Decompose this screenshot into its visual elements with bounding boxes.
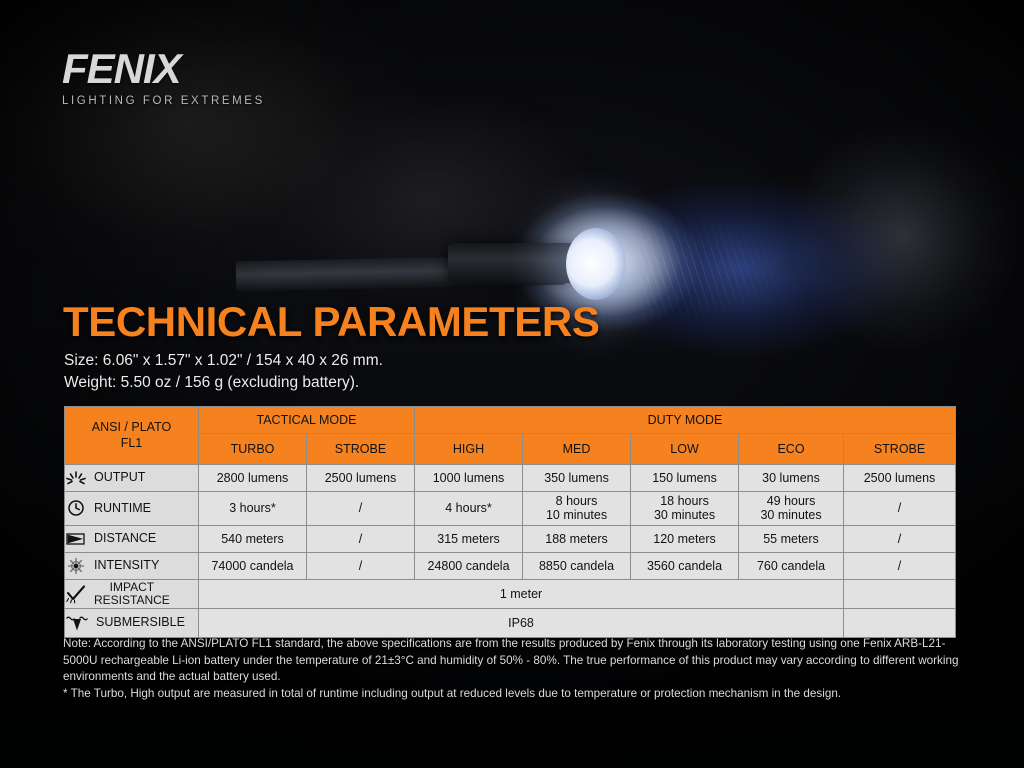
cell-output-low: 150 lumens	[631, 465, 739, 492]
table-row-intensity: INTENSITY 74000 candela / 24800 candela …	[65, 552, 956, 579]
row-label-text: SUBMERSIBLE	[96, 616, 185, 630]
clock-icon	[65, 499, 87, 517]
row-label-output: OUTPUT	[65, 465, 199, 492]
table-row-submersible: SUBMERSIBLE IP68	[65, 608, 956, 637]
cell-distance-strobe-tactical: /	[307, 525, 415, 552]
table-row-impact-resistance: IMPACT RESISTANCE 1 meter	[65, 579, 956, 608]
cell-output-strobe-duty: 2500 lumens	[844, 465, 956, 492]
column-header-low: LOW	[631, 434, 739, 465]
product-spec-page: FENIX LIGHTING FOR EXTREMES TECHNICAL PA…	[0, 0, 1024, 768]
brand-block: FENIX LIGHTING FOR EXTREMES	[62, 48, 265, 107]
row-label-submersible: SUBMERSIBLE	[65, 608, 199, 637]
impact-resistance-icon	[65, 584, 87, 604]
row-label-impact-resistance: IMPACT RESISTANCE	[65, 579, 199, 608]
cell-output-high: 1000 lumens	[415, 465, 523, 492]
sunburst-icon	[65, 470, 87, 487]
cell-distance-strobe-duty: /	[844, 525, 956, 552]
cell-distance-high: 315 meters	[415, 525, 523, 552]
beam-icon	[65, 531, 87, 547]
footnotes: Note: According to the ANSI/PLATO FL1 st…	[63, 636, 963, 702]
cell-intensity-low: 3560 candela	[631, 552, 739, 579]
cell-runtime-med: 8 hours 10 minutes	[523, 492, 631, 526]
column-header-strobe-duty: STROBE	[844, 434, 956, 465]
cell-submersible-empty	[844, 608, 956, 637]
technical-parameters-table: ANSI / PLATO FL1 TACTICAL MODE DUTY MODE…	[64, 406, 955, 638]
cell-runtime-high: 4 hours*	[415, 492, 523, 526]
cell-distance-low: 120 meters	[631, 525, 739, 552]
cell-runtime-turbo: 3 hours*	[199, 492, 307, 526]
table-group-header-row: ANSI / PLATO FL1 TACTICAL MODE DUTY MODE	[65, 407, 956, 434]
cell-output-turbo: 2800 lumens	[199, 465, 307, 492]
intensity-icon	[65, 557, 87, 575]
cell-runtime-low: 18 hours 30 minutes	[631, 492, 739, 526]
row-label-text: RUNTIME	[94, 502, 151, 516]
impact-label-line2: RESISTANCE	[94, 593, 170, 607]
cell-intensity-high: 24800 candela	[415, 552, 523, 579]
column-header-med: MED	[523, 434, 631, 465]
cell-intensity-eco: 760 candela	[739, 552, 844, 579]
group-header-duty-mode: DUTY MODE	[415, 407, 956, 434]
column-header-strobe-tactical: STROBE	[307, 434, 415, 465]
cell-intensity-strobe-tactical: /	[307, 552, 415, 579]
cell-intensity-med: 8850 candela	[523, 552, 631, 579]
impact-label-line1: IMPACT	[110, 580, 154, 594]
fenix-logo: FENIX	[62, 48, 265, 90]
page-title: TECHNICAL PARAMETERS	[63, 301, 599, 343]
cell-intensity-strobe-duty: /	[844, 552, 956, 579]
column-header-eco: ECO	[739, 434, 844, 465]
ansi-plato-corner: ANSI / PLATO FL1	[65, 407, 199, 465]
row-label-text: OUTPUT	[94, 471, 145, 485]
ansi-label-line2: FL1	[65, 436, 198, 452]
cell-impact-resistance-empty	[844, 579, 956, 608]
cell-output-med: 350 lumens	[523, 465, 631, 492]
cell-output-eco: 30 lumens	[739, 465, 844, 492]
row-label-distance: DISTANCE	[65, 525, 199, 552]
weight-spec: Weight: 5.50 oz / 156 g (excluding batte…	[64, 374, 359, 392]
table-row-distance: DISTANCE 540 meters / 315 meters 188 met…	[65, 525, 956, 552]
row-label-text: INTENSITY	[94, 559, 159, 573]
cell-output-strobe-tactical: 2500 lumens	[307, 465, 415, 492]
row-label-text: IMPACT RESISTANCE	[94, 581, 170, 607]
column-header-high: HIGH	[415, 434, 523, 465]
cell-runtime-strobe-duty: /	[844, 492, 956, 526]
ansi-label-line1: ANSI / PLATO	[65, 420, 198, 436]
table-column-header-row: TURBO STROBE HIGH MED LOW ECO STROBE	[65, 434, 956, 465]
row-label-intensity: INTENSITY	[65, 552, 199, 579]
cell-submersible-value: IP68	[199, 608, 844, 637]
table-row-output: OUTPUT 2800 lumens 2500 lumens 1000 lume…	[65, 465, 956, 492]
footnote-asterisk: * The Turbo, High output are measured in…	[63, 686, 963, 703]
cell-distance-med: 188 meters	[523, 525, 631, 552]
size-spec: Size: 6.06" x 1.57" x 1.02" / 154 x 40 x…	[64, 352, 383, 370]
submersible-icon	[65, 614, 89, 632]
group-header-tactical-mode: TACTICAL MODE	[199, 407, 415, 434]
cell-intensity-turbo: 74000 candela	[199, 552, 307, 579]
column-header-turbo: TURBO	[199, 434, 307, 465]
row-label-text: DISTANCE	[94, 532, 156, 546]
cell-runtime-eco: 49 hours 30 minutes	[739, 492, 844, 526]
row-label-runtime: RUNTIME	[65, 492, 199, 526]
table-row-runtime: RUNTIME 3 hours* / 4 hours* 8 hours 10 m…	[65, 492, 956, 526]
cell-distance-eco: 55 meters	[739, 525, 844, 552]
cell-distance-turbo: 540 meters	[199, 525, 307, 552]
cell-runtime-strobe-tactical: /	[307, 492, 415, 526]
brand-tagline: LIGHTING FOR EXTREMES	[62, 95, 265, 107]
footnote-standard: Note: According to the ANSI/PLATO FL1 st…	[63, 636, 963, 686]
cell-impact-resistance-value: 1 meter	[199, 579, 844, 608]
